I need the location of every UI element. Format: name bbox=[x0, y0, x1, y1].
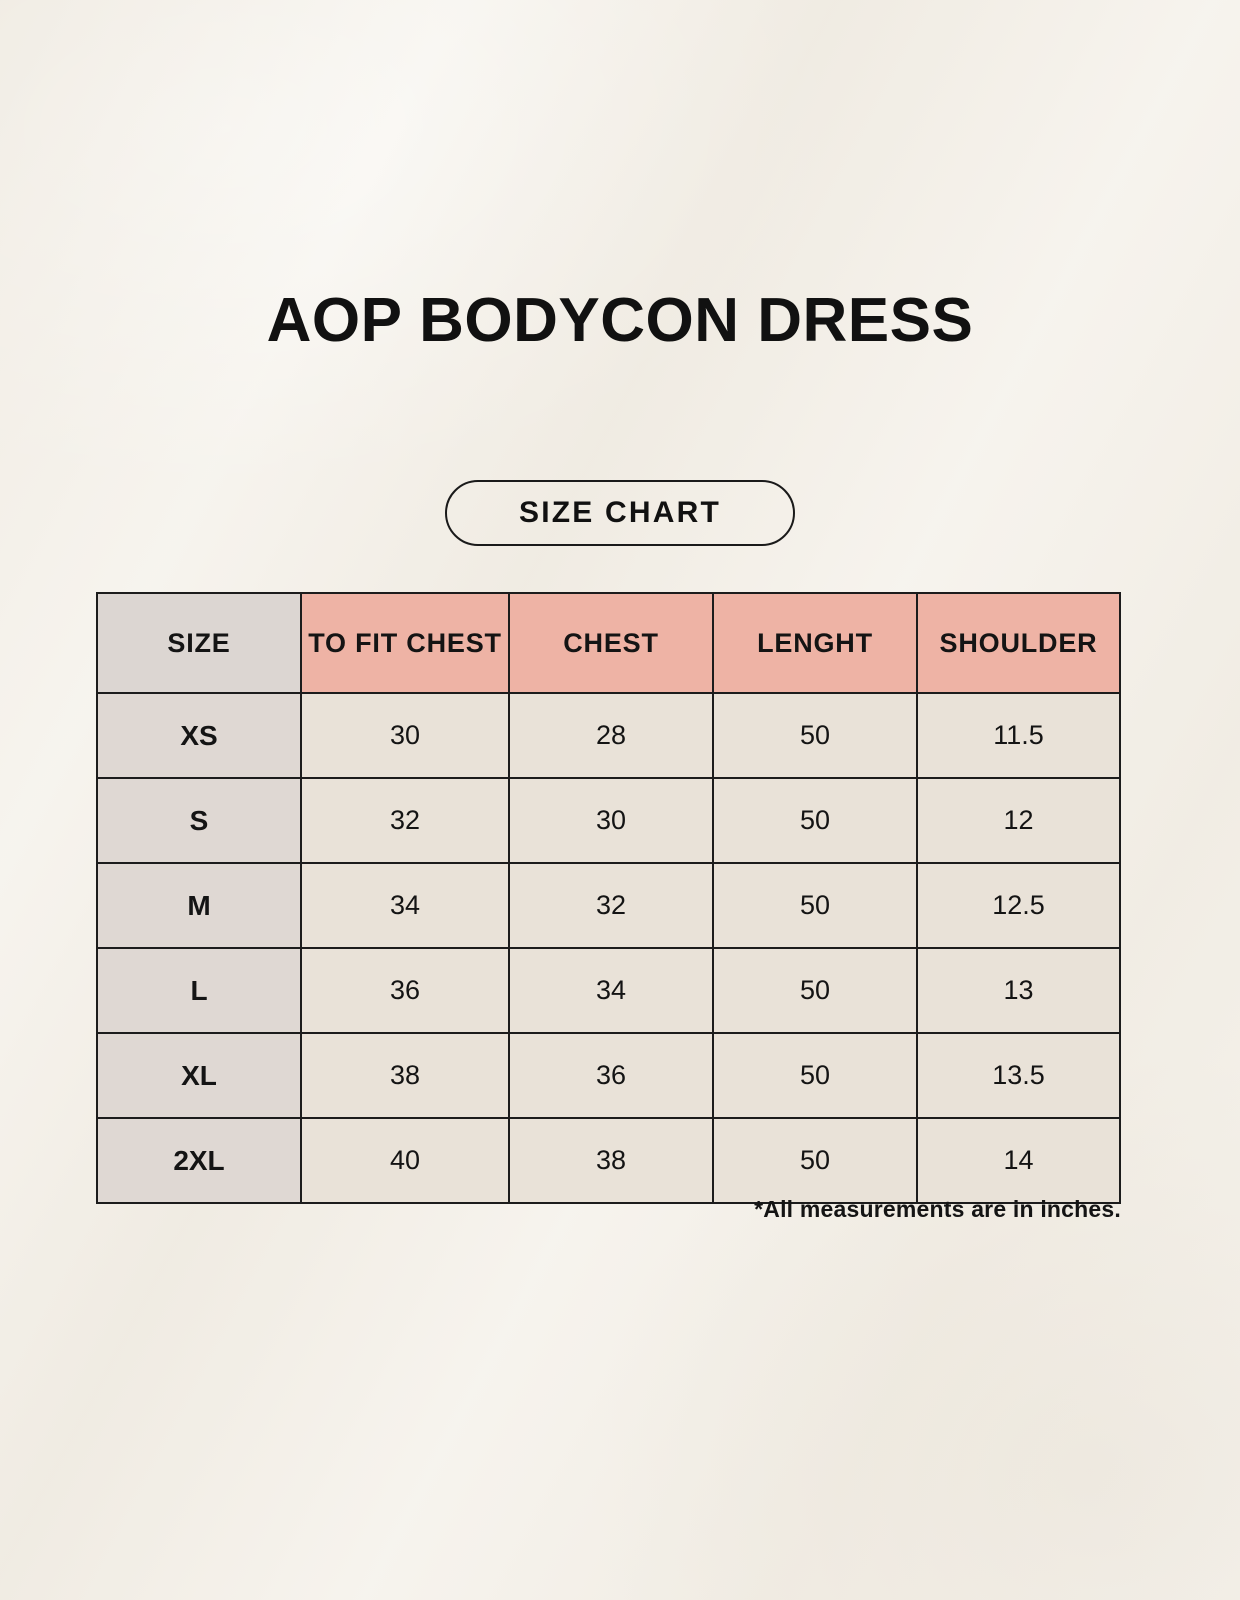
cell-size: XL bbox=[97, 1033, 301, 1118]
table-row: 2XL 40 38 50 14 bbox=[97, 1118, 1120, 1203]
cell-to-fit-chest: 36 bbox=[301, 948, 509, 1033]
size-chart-table: SIZE TO FIT CHEST CHEST LENGHT SHOULDER … bbox=[96, 592, 1121, 1204]
title-block: AOP BODYCON DRESS bbox=[0, 286, 1240, 356]
table-row: S 32 30 50 12 bbox=[97, 778, 1120, 863]
cell-lenght: 50 bbox=[713, 863, 917, 948]
cell-size: XS bbox=[97, 693, 301, 778]
cell-chest: 28 bbox=[509, 693, 713, 778]
badge-container: SIZE CHART bbox=[0, 480, 1240, 546]
cell-shoulder: 12 bbox=[917, 778, 1120, 863]
cell-to-fit-chest: 34 bbox=[301, 863, 509, 948]
cell-to-fit-chest: 40 bbox=[301, 1118, 509, 1203]
cell-lenght: 50 bbox=[713, 693, 917, 778]
table-row: M 34 32 50 12.5 bbox=[97, 863, 1120, 948]
table-body: XS 30 28 50 11.5 S 32 30 50 12 M 34 32 bbox=[97, 693, 1120, 1203]
size-table-container: SIZE TO FIT CHEST CHEST LENGHT SHOULDER … bbox=[96, 592, 1119, 1204]
cell-size: L bbox=[97, 948, 301, 1033]
cell-lenght: 50 bbox=[713, 948, 917, 1033]
cell-chest: 30 bbox=[509, 778, 713, 863]
cell-shoulder: 14 bbox=[917, 1118, 1120, 1203]
cell-size: 2XL bbox=[97, 1118, 301, 1203]
cell-to-fit-chest: 30 bbox=[301, 693, 509, 778]
cell-size: S bbox=[97, 778, 301, 863]
column-header-size: SIZE bbox=[97, 593, 301, 693]
cell-lenght: 50 bbox=[713, 1118, 917, 1203]
table-header: SIZE TO FIT CHEST CHEST LENGHT SHOULDER bbox=[97, 593, 1120, 693]
column-header-to-fit-chest: TO FIT CHEST bbox=[301, 593, 509, 693]
cell-size: M bbox=[97, 863, 301, 948]
cell-to-fit-chest: 38 bbox=[301, 1033, 509, 1118]
table-header-row: SIZE TO FIT CHEST CHEST LENGHT SHOULDER bbox=[97, 593, 1120, 693]
cell-chest: 38 bbox=[509, 1118, 713, 1203]
size-chart-badge: SIZE CHART bbox=[445, 480, 795, 546]
cell-lenght: 50 bbox=[713, 778, 917, 863]
cell-to-fit-chest: 32 bbox=[301, 778, 509, 863]
measurement-note: *All measurements are in inches. bbox=[754, 1196, 1121, 1223]
cell-shoulder: 13 bbox=[917, 948, 1120, 1033]
cell-shoulder: 11.5 bbox=[917, 693, 1120, 778]
cell-shoulder: 13.5 bbox=[917, 1033, 1120, 1118]
cell-chest: 34 bbox=[509, 948, 713, 1033]
column-header-chest: CHEST bbox=[509, 593, 713, 693]
table-row: XL 38 36 50 13.5 bbox=[97, 1033, 1120, 1118]
table-row: L 36 34 50 13 bbox=[97, 948, 1120, 1033]
cell-shoulder: 12.5 bbox=[917, 863, 1120, 948]
cell-chest: 36 bbox=[509, 1033, 713, 1118]
table-row: XS 30 28 50 11.5 bbox=[97, 693, 1120, 778]
cell-chest: 32 bbox=[509, 863, 713, 948]
size-chart-page: AOP BODYCON DRESS SIZE CHART SIZE TO FIT… bbox=[0, 0, 1240, 1600]
column-header-shoulder: SHOULDER bbox=[917, 593, 1120, 693]
page-title: AOP BODYCON DRESS bbox=[0, 286, 1240, 356]
column-header-lenght: LENGHT bbox=[713, 593, 917, 693]
cell-lenght: 50 bbox=[713, 1033, 917, 1118]
